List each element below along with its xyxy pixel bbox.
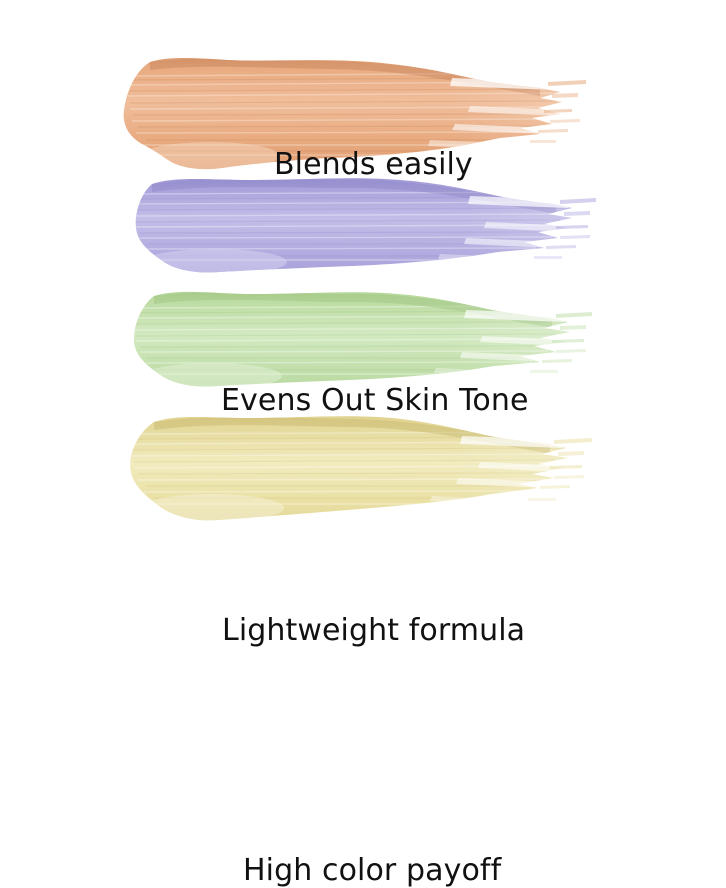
swatch-label-yellow: High color payoff <box>243 856 501 886</box>
swatch-row-green: Lightweight formula <box>0 286 726 398</box>
swatch-row-yellow: High color payoff <box>0 408 726 534</box>
swatch-label-green: Lightweight formula <box>222 616 525 646</box>
swatch-row-peach: Blends easily <box>0 52 726 172</box>
brush-stroke-green <box>0 286 726 398</box>
swatch-row-lavender: Evens Out Skin Tone <box>0 172 726 284</box>
brush-stroke-yellow <box>0 408 726 534</box>
product-benefits-graphic: Blends easily <box>0 0 726 569</box>
brush-stroke-lavender <box>0 172 726 284</box>
